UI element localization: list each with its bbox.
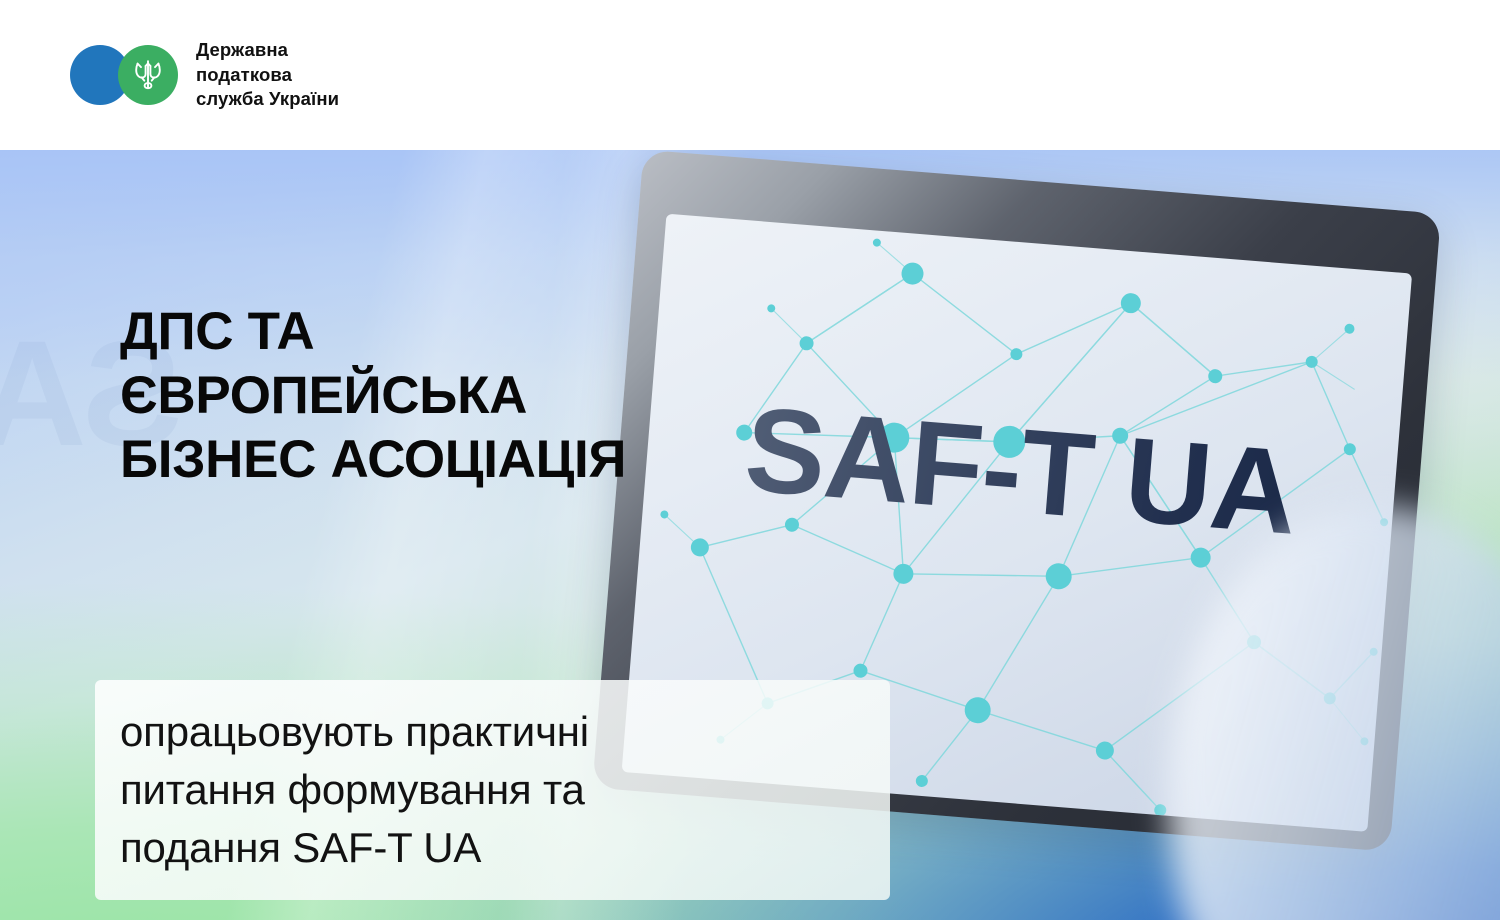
page-header: Державна податкова служба України xyxy=(0,0,1500,150)
hero-banner: SA xyxy=(0,150,1500,920)
promo-banner: Державна податкова служба України SA xyxy=(0,0,1500,920)
hero-headline: ДПС ТА ЄВРОПЕЙСЬКА БІЗНЕС АСОЦІАЦІЯ xyxy=(120,300,626,492)
organization-name: Державна податкова служба України xyxy=(196,38,339,112)
organization-logo: Державна податкова служба України xyxy=(70,38,339,112)
logo-green-circle-icon xyxy=(118,45,178,105)
ukraine-trident-icon xyxy=(133,57,163,93)
hero-subtitle: опрацьовують практичні питання формуванн… xyxy=(120,703,880,877)
